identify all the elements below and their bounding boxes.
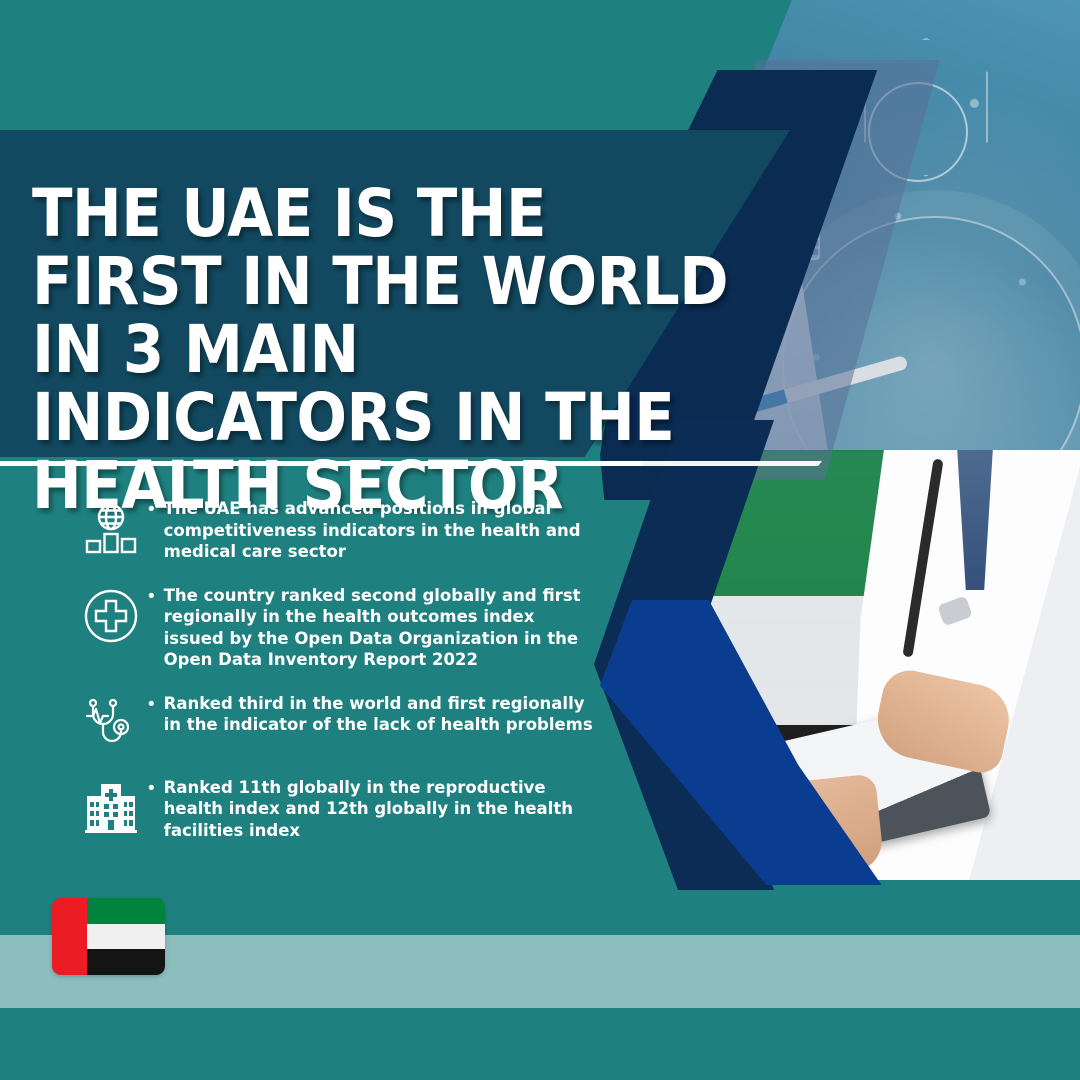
list-item: • Ranked 11th globally in the reproducti… <box>80 777 600 842</box>
bullet-marker: • <box>148 778 155 800</box>
flag-red-band <box>52 898 87 975</box>
infographic-poster: THE UAE IS THE FIRST IN THE WORLD IN 3 M… <box>0 0 1080 1080</box>
bullet-text: Ranked 11th globally in the reproductive… <box>164 777 600 842</box>
medical-cross-circle-icon <box>80 585 142 647</box>
flag-green-band <box>87 898 165 924</box>
list-item: • The UAE has advanced positions in glob… <box>80 498 600 563</box>
bullet-marker: • <box>148 694 155 716</box>
title-divider-angled <box>638 461 822 466</box>
uae-flag <box>52 898 165 975</box>
bullet-marker: • <box>148 586 155 608</box>
bullet-text: The UAE has advanced positions in global… <box>164 498 600 563</box>
flag-black-band <box>87 949 165 975</box>
list-item: • Ranked third in the world and first re… <box>80 693 600 755</box>
globe-bar-chart-icon <box>80 498 142 560</box>
bullet-marker: • <box>148 499 155 521</box>
bullet-text: Ranked third in the world and first regi… <box>164 693 600 736</box>
list-item: • The country ranked second globally and… <box>80 585 600 671</box>
bullet-text: The country ranked second globally and f… <box>164 585 600 671</box>
page-title: THE UAE IS THE FIRST IN THE WORLD IN 3 M… <box>32 180 752 520</box>
title-divider <box>0 461 642 466</box>
flag-white-band <box>87 924 165 950</box>
hospital-building-icon <box>80 777 142 839</box>
stethoscope-heartbeat-icon <box>80 693 142 755</box>
bullet-list: • The UAE has advanced positions in glob… <box>80 498 600 863</box>
flag-horizontal-bands <box>87 898 165 975</box>
